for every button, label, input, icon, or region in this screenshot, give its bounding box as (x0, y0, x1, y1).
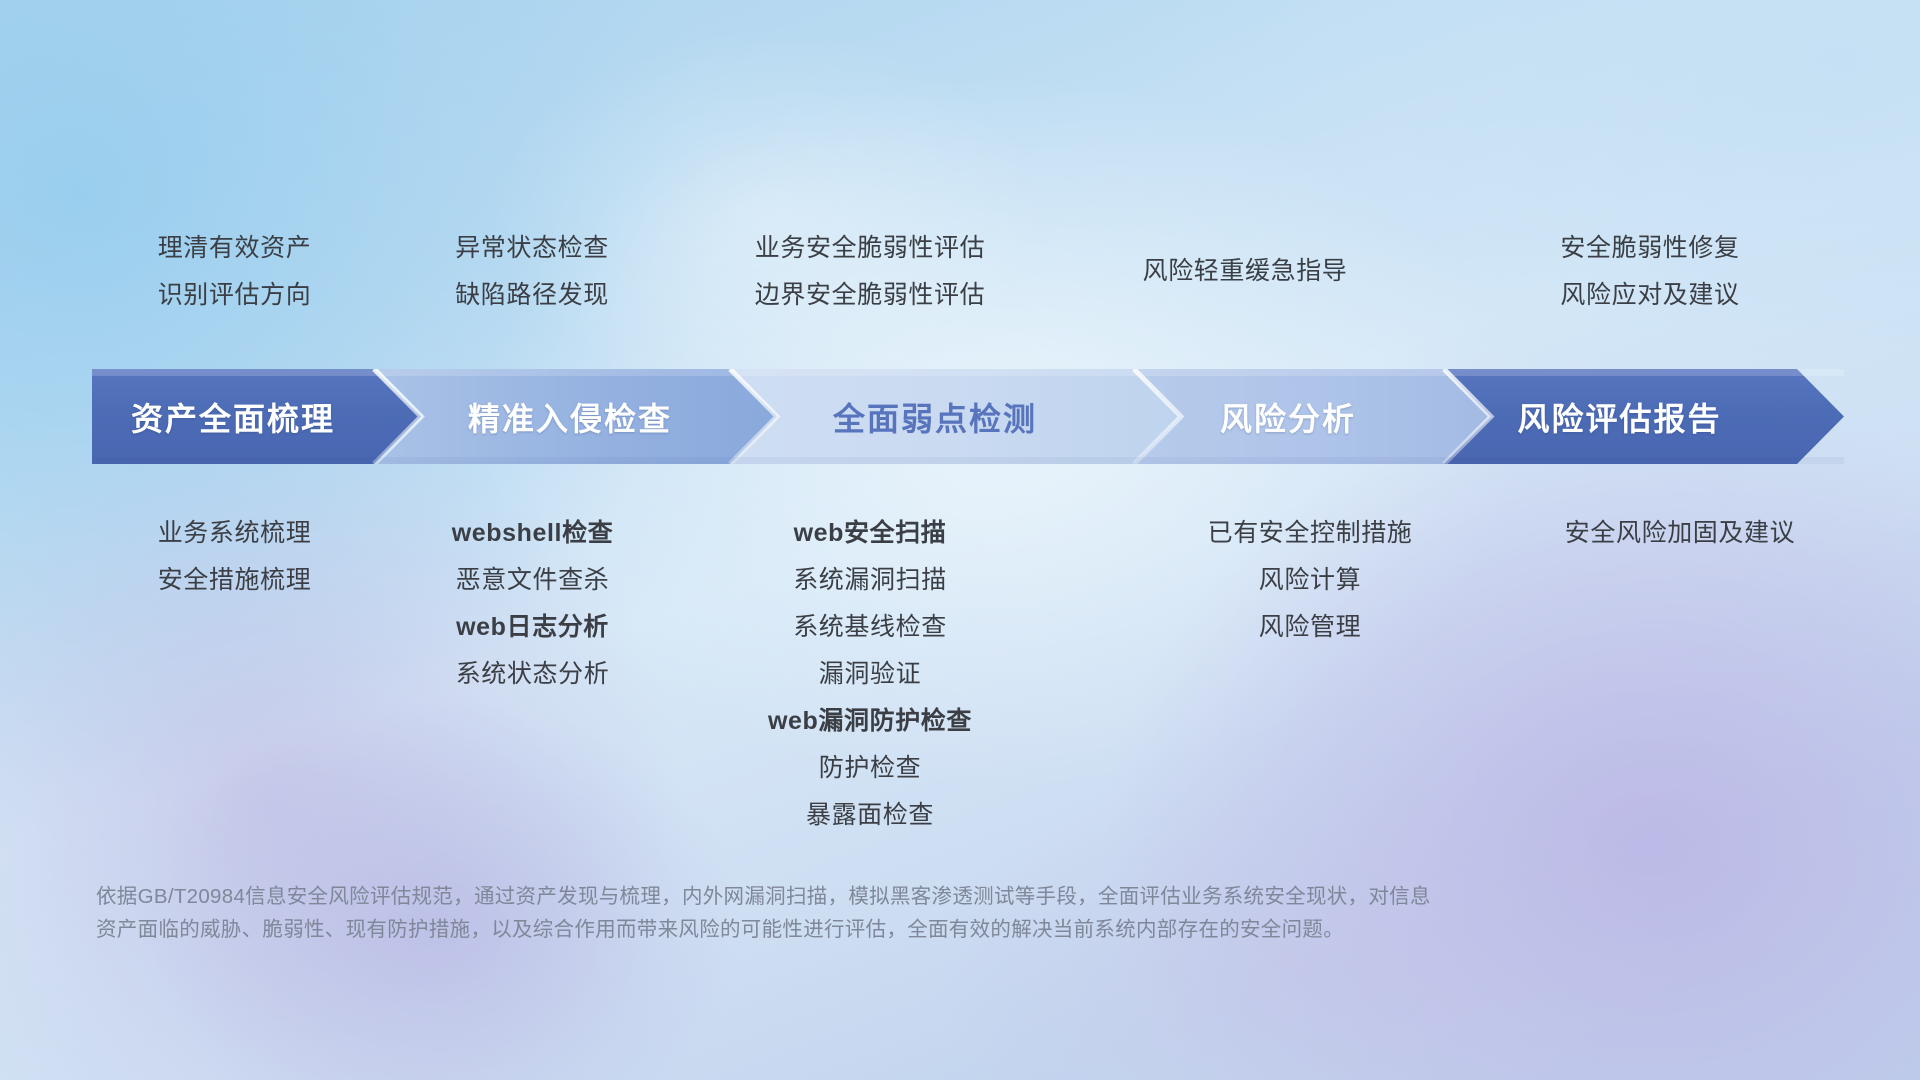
below-line: 风险管理 (1090, 604, 1530, 651)
below-line: web漏洞防护检查 (630, 698, 1110, 745)
below-line: 暴露面检查 (630, 792, 1110, 839)
below-line: 风险计算 (1090, 557, 1530, 604)
process-arrow-banner: 资产全面梳理 精准入侵检查 全面弱点检测 风险分析 风险评估报告 (92, 369, 1844, 464)
stage-above-text-intrusion-check: 异常状态检查 缺陷路径发现 (387, 225, 677, 319)
above-line: 理清有效资产 (42, 225, 427, 272)
below-line: web安全扫描 (630, 510, 1110, 557)
above-line: 异常状态检查 (387, 225, 677, 272)
above-line: 边界安全脆弱性评估 (690, 272, 1050, 319)
above-line: 识别评估方向 (42, 272, 427, 319)
footer-description: 依据GB/T20984信息安全风险评估规范，通过资产发现与梳理，内外网漏洞扫描，… (96, 880, 1616, 946)
below-line: 防护检查 (630, 745, 1110, 792)
stage-below-text-weakness-detection: web安全扫描 系统漏洞扫描 系统基线检查 漏洞验证 web漏洞防护检查 防护检… (630, 510, 1110, 839)
below-line: 安全风险加固及建议 (1460, 510, 1900, 557)
above-line: 安全脆弱性修复 (1490, 225, 1810, 272)
above-line: 缺陷路径发现 (387, 272, 677, 319)
below-line: 漏洞验证 (630, 651, 1110, 698)
footer-line-2: 资产面临的威胁、脆弱性、现有防护措施，以及综合作用而带来风险的可能性进行评估，全… (96, 913, 1616, 946)
below-line: 系统漏洞扫描 (630, 557, 1110, 604)
above-line: 业务安全脆弱性评估 (690, 225, 1050, 272)
arrow-segment-intrusion-check[interactable] (378, 369, 777, 464)
arrow-segment-asset-inventory[interactable] (92, 369, 421, 464)
banner-bottom-shade (92, 457, 1844, 464)
above-line: 风险应对及建议 (1490, 272, 1810, 319)
footer-line-1: 依据GB/T20984信息安全风险评估规范，通过资产发现与梳理，内外网漏洞扫描，… (96, 880, 1616, 913)
above-line: 风险轻重缓急指导 (1075, 248, 1415, 295)
stage-above-text-assessment-report: 安全脆弱性修复 风险应对及建议 (1490, 225, 1810, 319)
stage-above-text-risk-analysis: 风险轻重缓急指导 (1075, 248, 1415, 295)
below-line: 系统基线检查 (630, 604, 1110, 651)
stage-above-text-weakness-detection: 业务安全脆弱性评估 边界安全脆弱性评估 (690, 225, 1050, 319)
stage-above-text-asset-inventory: 理清有效资产 识别评估方向 (42, 225, 427, 319)
process-diagram: 理清有效资产 识别评估方向 异常状态检查 缺陷路径发现 业务安全脆弱性评估 边界… (0, 0, 1920, 1080)
banner-top-sheen (92, 369, 1844, 376)
stage-below-text-assessment-report: 安全风险加固及建议 (1460, 510, 1900, 557)
